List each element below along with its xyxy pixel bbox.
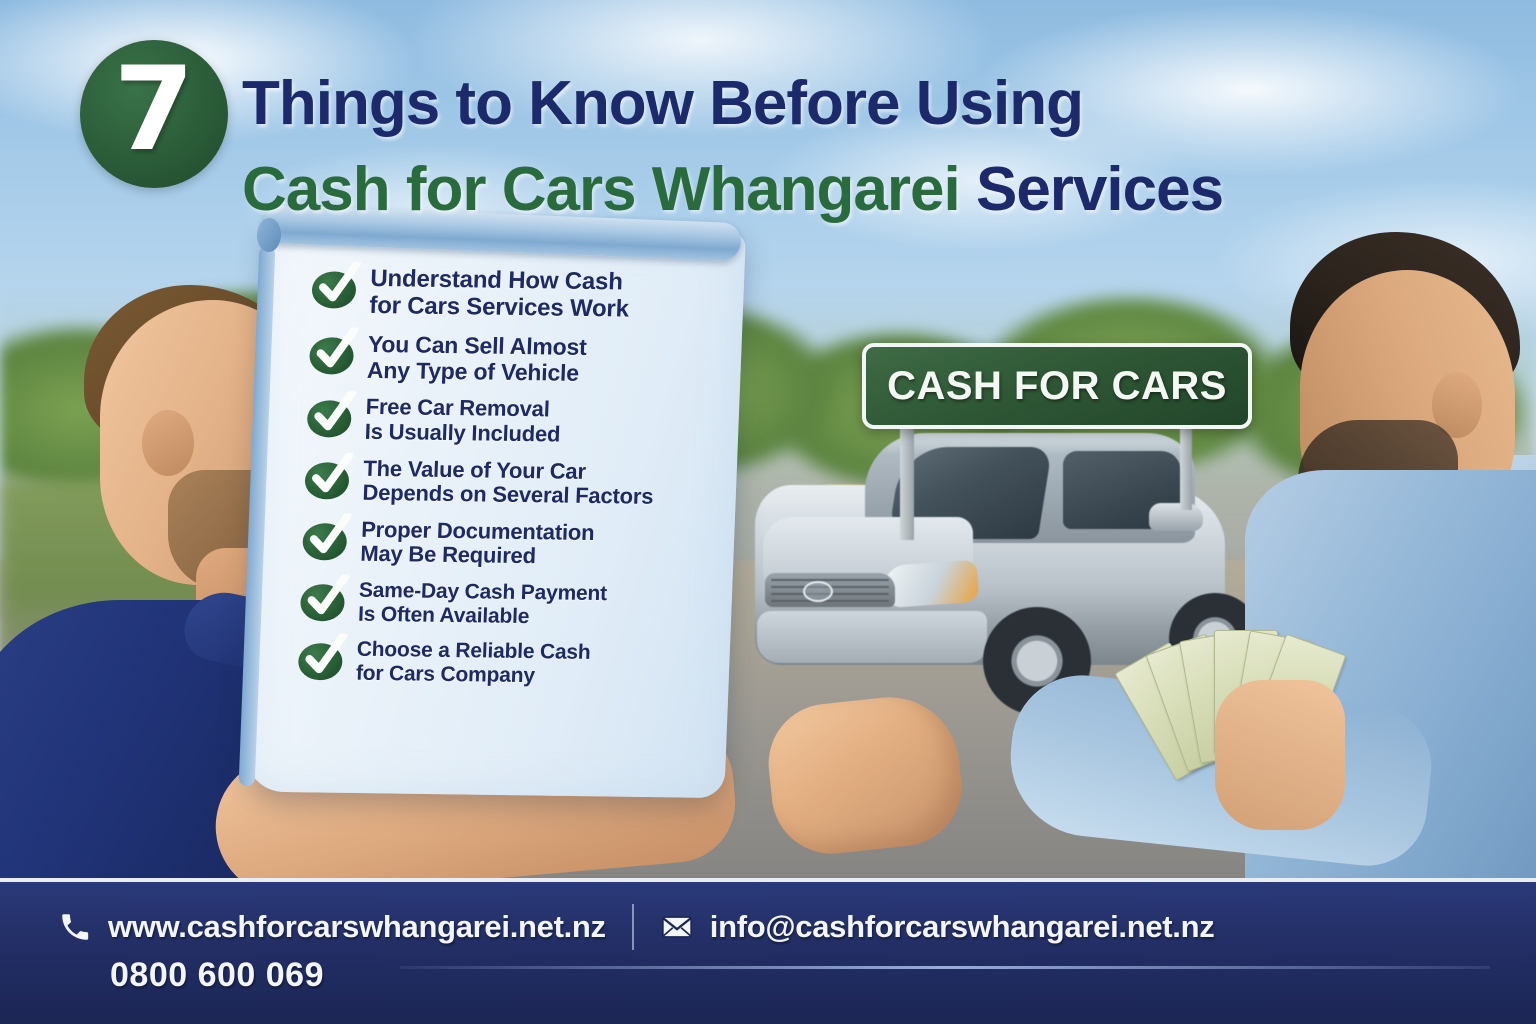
list-item-text: Same-Day Cash Payment Is Often Available <box>358 579 608 629</box>
list-item-line2: Any Type of Vehicle <box>367 356 580 385</box>
badge-number: 7 <box>114 52 195 168</box>
list-item-line1: Free Car Removal <box>365 394 550 422</box>
list-item-line2: Is Often Available <box>358 602 530 627</box>
list-item: The Value of Your Car Depends on Several… <box>304 456 736 511</box>
list-item-text: You Can Sell Almost Any Type of Vehicle <box>367 332 588 387</box>
list-item: You Can Sell Almost Any Type of Vehicle <box>309 331 741 388</box>
list-item: Proper Documentation May Be Required <box>302 517 734 572</box>
phone-number[interactable]: 0800 600 069 <box>110 956 324 995</box>
check-circle-icon <box>304 460 351 501</box>
handshake-graphic <box>763 690 968 859</box>
list-item-text: Choose a Reliable Cash for Cars Company <box>356 638 591 688</box>
footer-accent-line <box>400 966 1490 969</box>
sign-post-secondary <box>1180 420 1192 510</box>
list-item-line1: Proper Documentation <box>361 517 595 545</box>
title-services-text: Services <box>960 155 1223 224</box>
list-item-line1: Choose a Reliable Cash <box>356 638 591 664</box>
list-item-text: The Value of Your Car Depends on Several… <box>362 456 655 509</box>
list-item-line2: Depends on Several Factors <box>362 480 654 509</box>
road-sign-label: CASH FOR CARS <box>887 364 1227 409</box>
number-badge: 7 <box>80 40 228 188</box>
footer-divider <box>632 904 634 950</box>
infographic-poster: CASH FOR CARS <box>0 0 1536 1024</box>
list-item-line1: Same-Day Cash Payment <box>359 579 608 605</box>
list-item: Same-Day Cash Payment Is Often Available <box>300 578 732 631</box>
cash-for-cars-road-sign: CASH FOR CARS <box>862 343 1252 429</box>
list-item-line2: for Cars Services Work <box>369 292 629 323</box>
check-circle-icon <box>300 582 347 623</box>
title-line-1: Things to Know Before Using <box>242 68 1083 139</box>
list-item-line2: for Cars Company <box>356 661 536 686</box>
check-circle-icon <box>311 269 358 310</box>
list-item-line1: Understand How Cash <box>370 265 623 296</box>
check-circle-icon <box>298 641 345 682</box>
list-item-text: Free Car Removal Is Usually Included <box>364 395 561 447</box>
list-item-line1: The Value of Your Car <box>363 455 586 483</box>
list-item-line1: You Can Sell Almost <box>368 331 588 360</box>
list-item-line2: Is Usually Included <box>364 419 560 447</box>
phone-icon <box>58 910 92 944</box>
check-circle-icon <box>302 521 349 562</box>
checklist-items: Understand How Cash for Cars Services Wo… <box>297 265 743 702</box>
checklist-board: Understand How Cash for Cars Services Wo… <box>255 200 755 800</box>
website-url[interactable]: www.cashforcarswhangarei.net.nz <box>108 909 606 945</box>
check-circle-icon <box>307 398 354 439</box>
footer-contact-row: www.cashforcarswhangarei.net.nz info@cas… <box>58 904 1214 950</box>
list-item-text: Proper Documentation May Be Required <box>360 518 595 570</box>
sign-post <box>900 420 914 540</box>
envelope-icon <box>660 910 694 944</box>
list-item: Free Car Removal Is Usually Included <box>306 394 738 449</box>
contact-footer: www.cashforcarswhangarei.net.nz info@cas… <box>0 878 1536 1024</box>
title-brand-text: Cash for Cars Whangarei <box>242 155 960 224</box>
list-item-line2: May Be Required <box>360 541 536 568</box>
list-item: Understand How Cash for Cars Services Wo… <box>311 265 743 325</box>
title-line-2: Cash for Cars Whangarei Services <box>242 154 1223 225</box>
list-item: Choose a Reliable Cash for Cars Company <box>298 637 730 690</box>
check-circle-icon <box>309 335 356 376</box>
list-item-text: Understand How Cash for Cars Services Wo… <box>369 266 630 323</box>
email-address[interactable]: info@cashforcarswhangarei.net.nz <box>710 909 1215 945</box>
